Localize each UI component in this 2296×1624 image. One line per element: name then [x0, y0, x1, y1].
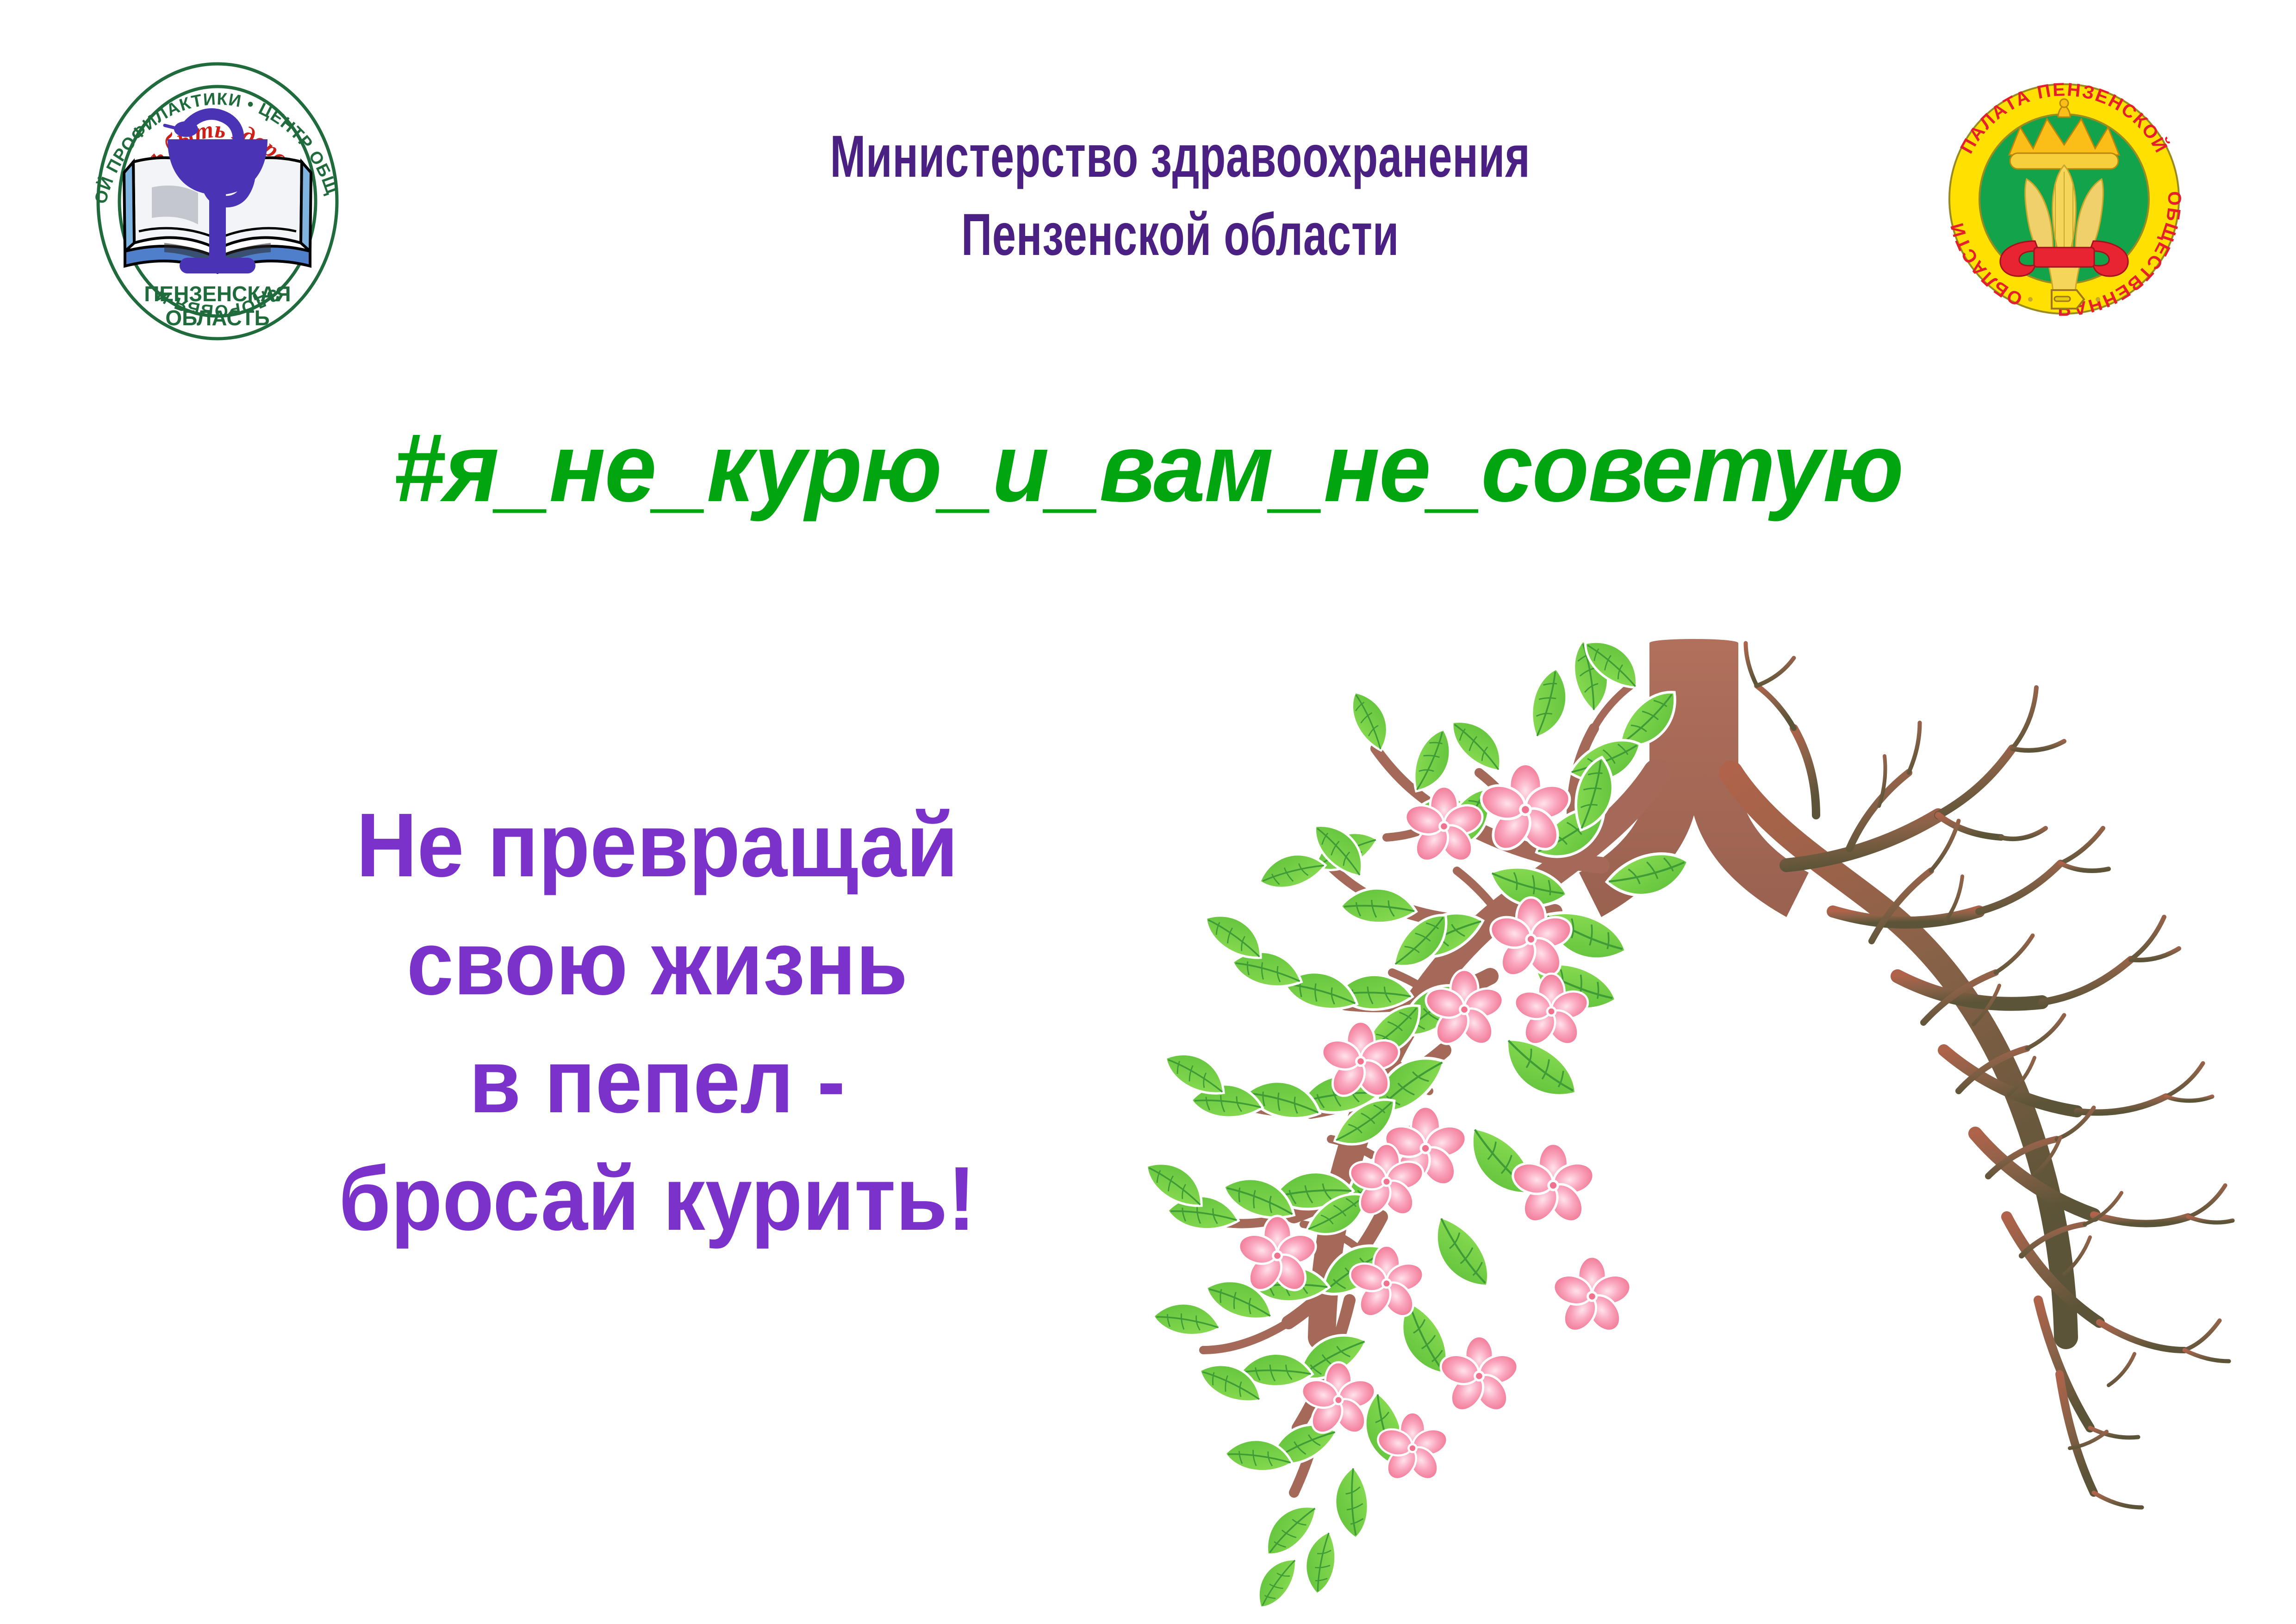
slogan-line-3: в пепел - [188, 1023, 1126, 1141]
healthy-lung-left [1140, 634, 1693, 1614]
ministry-title: Министерство здравоохранения Пензенской … [714, 118, 1647, 274]
unhealthy-lung-right [1731, 643, 2233, 1507]
logo-public-chamber: ПАЛАТА ПЕНЗЕНСКОЙ ОБЩЕСТВЕННАЯ ОБЛАСТИ [1928, 62, 2201, 335]
poster-slogan: Не превращай свою жизнь в пепел - бросай… [188, 787, 1126, 1258]
lungs-tree-illustration [1139, 634, 2249, 1624]
slogan-line-1: Не превращай [188, 787, 1126, 905]
campaign-hashtag: #я_не_курю_и_вам_не_советую [46, 412, 2250, 524]
emblem-region-line1: ПЕНЗЕНСКАЯ [144, 282, 291, 306]
logo-center-public-health: МЕДИЦИНСКОЙ ПРОФИЛАКТИКИ • ЦЕНТР ОБЩЕСТВ… [69, 49, 366, 345]
emblem-region-line2: ОБЛАСТЬ [165, 306, 269, 330]
slogan-line-4: бросай курить! [188, 1140, 1126, 1258]
poster-header: МЕДИЦИНСКОЙ ПРОФИЛАКТИКИ • ЦЕНТР ОБЩЕСТВ… [0, 0, 2296, 352]
poster-canvas: МЕДИЦИНСКОЙ ПРОФИЛАКТИКИ • ЦЕНТР ОБЩЕСТВ… [0, 0, 2296, 1623]
slogan-line-2: свою жизнь [188, 905, 1126, 1023]
